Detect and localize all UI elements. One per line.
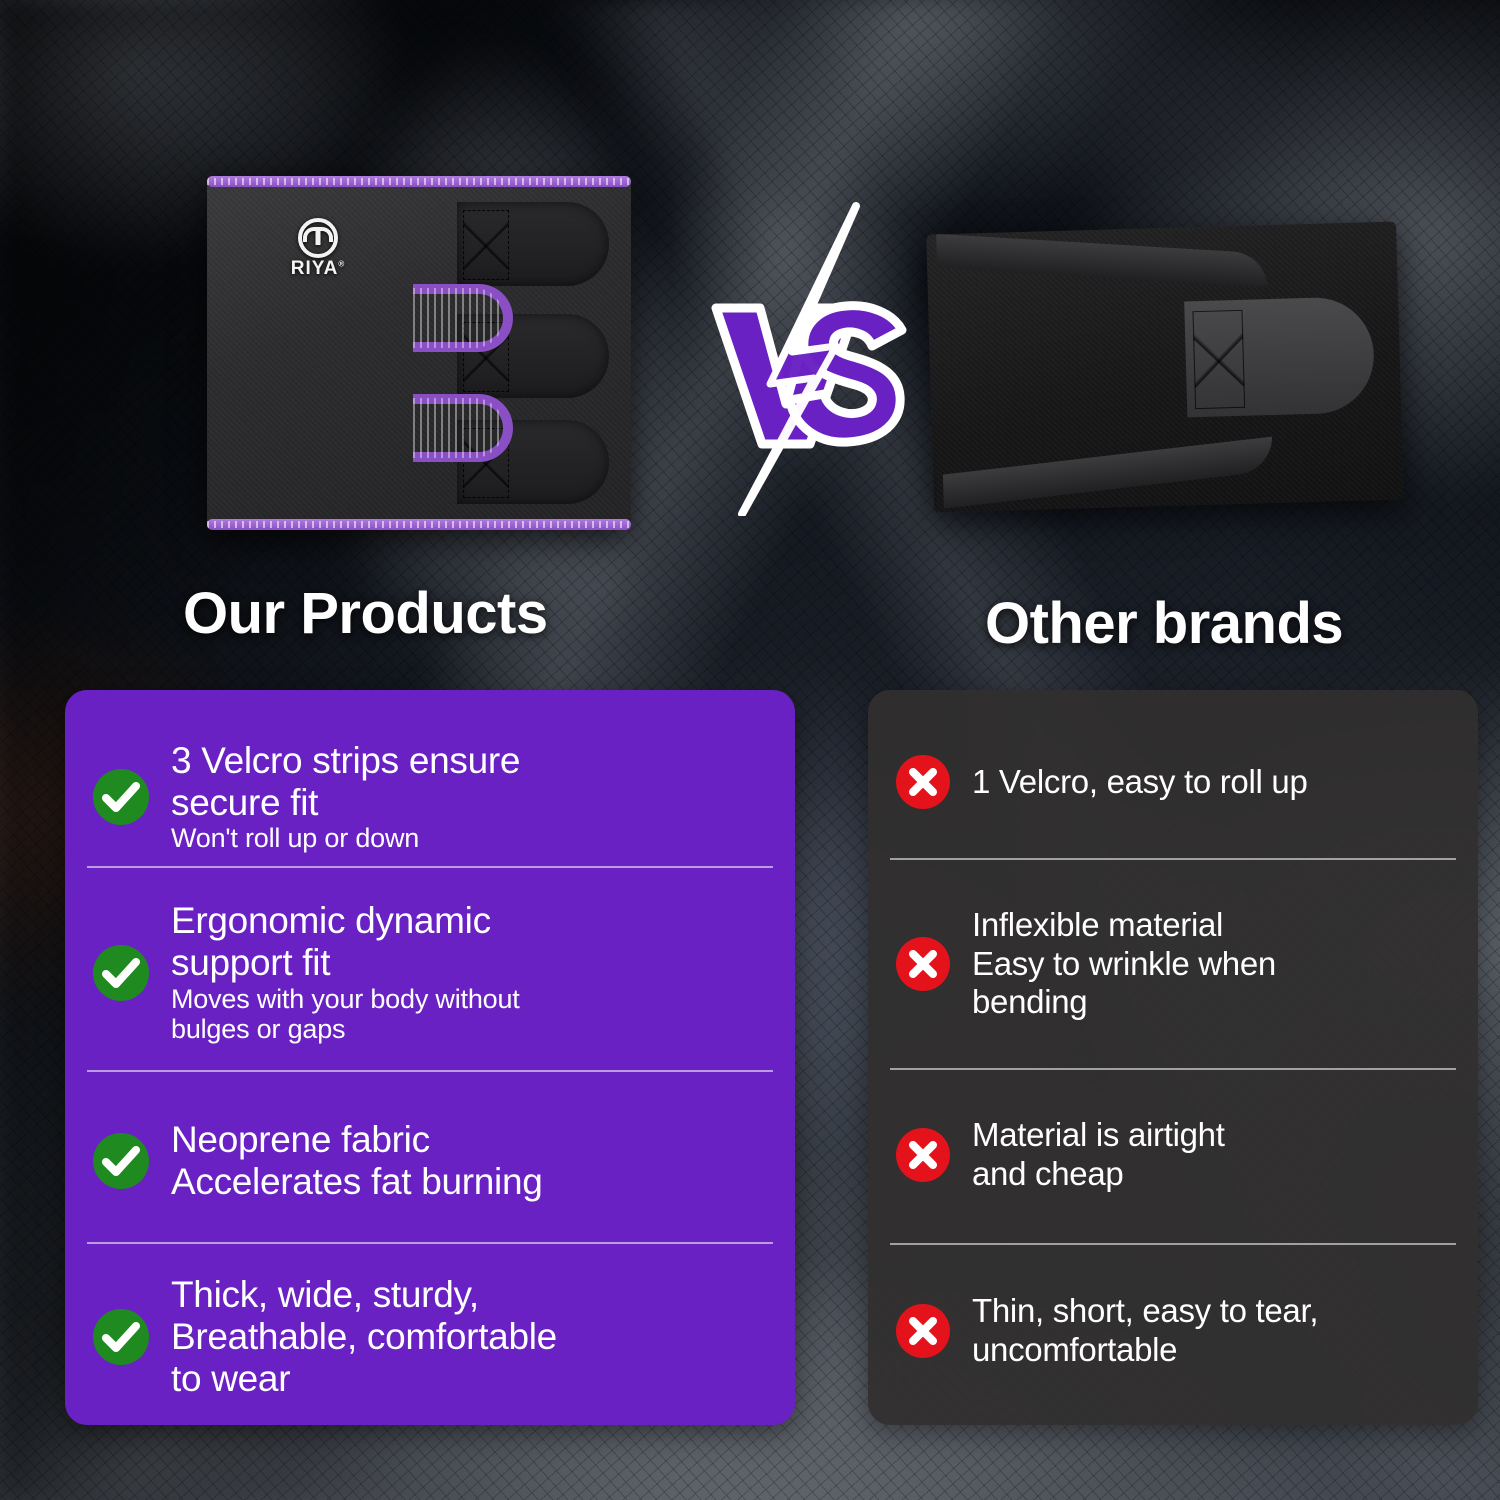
check-circle-icon	[93, 945, 149, 1001]
feature-subtitle: Won't roll up or down	[171, 823, 520, 854]
our-products-feature-list: 3 Velcro strips ensure secure fit Won't …	[65, 690, 795, 1425]
drawback-row-1: 1 Velcro, easy to roll up	[868, 712, 1478, 852]
x-circle-icon	[896, 1304, 950, 1358]
our-product-image: RIYA®	[207, 176, 631, 530]
row-divider	[890, 1243, 1456, 1245]
feature-row-2: Ergonomic dynamic support fit Moves with…	[65, 880, 795, 1065]
x-circle-icon	[896, 937, 950, 991]
feature-subtitle: Moves with your body without bulges or g…	[171, 984, 520, 1046]
row-divider	[87, 1242, 773, 1244]
row-divider	[87, 866, 773, 868]
other-brands-drawback-list: 1 Velcro, easy to roll up Inflexible mat…	[868, 690, 1478, 1425]
drawback-row-3: Material is airtight and cheap	[868, 1080, 1478, 1230]
drawback-title: Material is airtight and cheap	[972, 1116, 1225, 1193]
our-products-panel: 3 Velcro strips ensure secure fit Won't …	[65, 690, 795, 1425]
velcro-strip-1	[457, 202, 609, 286]
x-circle-icon	[896, 1128, 950, 1182]
drawback-title: Inflexible material Easy to wrinkle when…	[972, 906, 1276, 1022]
riya-wordmark: RIYA	[291, 258, 339, 279]
feature-title: Ergonomic dynamic support fit	[171, 900, 520, 984]
riya-brand-logo: RIYA®	[279, 218, 357, 278]
other-brands-heading: Other brands	[985, 590, 1343, 657]
feature-title: Neoprene fabric Accelerates fat burning	[171, 1119, 543, 1203]
feature-row-4: Thick, wide, sturdy, Breathable, comfort…	[65, 1252, 795, 1422]
feature-title: 3 Velcro strips ensure secure fit	[171, 740, 520, 824]
versus-badge	[706, 196, 916, 516]
row-divider	[87, 1070, 773, 1072]
purple-trim-top	[207, 176, 631, 187]
drawback-row-2: Inflexible material Easy to wrinkle when…	[868, 868, 1478, 1060]
check-circle-icon	[93, 769, 149, 825]
drawback-row-4: Thin, short, easy to tear, uncomfortable	[868, 1256, 1478, 1406]
purple-seam-1	[413, 284, 513, 352]
row-divider	[890, 1068, 1456, 1070]
check-circle-icon	[93, 1133, 149, 1189]
feature-row-3: Neoprene fabric Accelerates fat burning	[65, 1082, 795, 1240]
our-products-heading: Our Products	[183, 580, 548, 647]
other-brands-panel: 1 Velcro, easy to roll up Inflexible mat…	[868, 690, 1478, 1425]
x-circle-icon	[896, 755, 950, 809]
single-velcro-strip	[1184, 296, 1375, 417]
vs-lightning-icon	[706, 196, 916, 516]
other-brand-product-image	[926, 221, 1404, 512]
riya-emblem-icon	[298, 218, 338, 258]
feature-row-1: 3 Velcro strips ensure secure fit Won't …	[65, 722, 795, 872]
feature-title: Thick, wide, sturdy, Breathable, comfort…	[171, 1274, 557, 1399]
check-circle-icon	[93, 1309, 149, 1365]
purple-trim-bottom	[207, 519, 631, 530]
row-divider	[890, 858, 1456, 860]
registered-mark: ®	[338, 260, 345, 269]
drawback-title: Thin, short, easy to tear, uncomfortable	[972, 1292, 1318, 1369]
drawback-title: 1 Velcro, easy to roll up	[972, 763, 1308, 802]
infographic-canvas: RIYA® Our Products Other brands	[0, 0, 1500, 1500]
purple-seam-2	[413, 394, 513, 462]
